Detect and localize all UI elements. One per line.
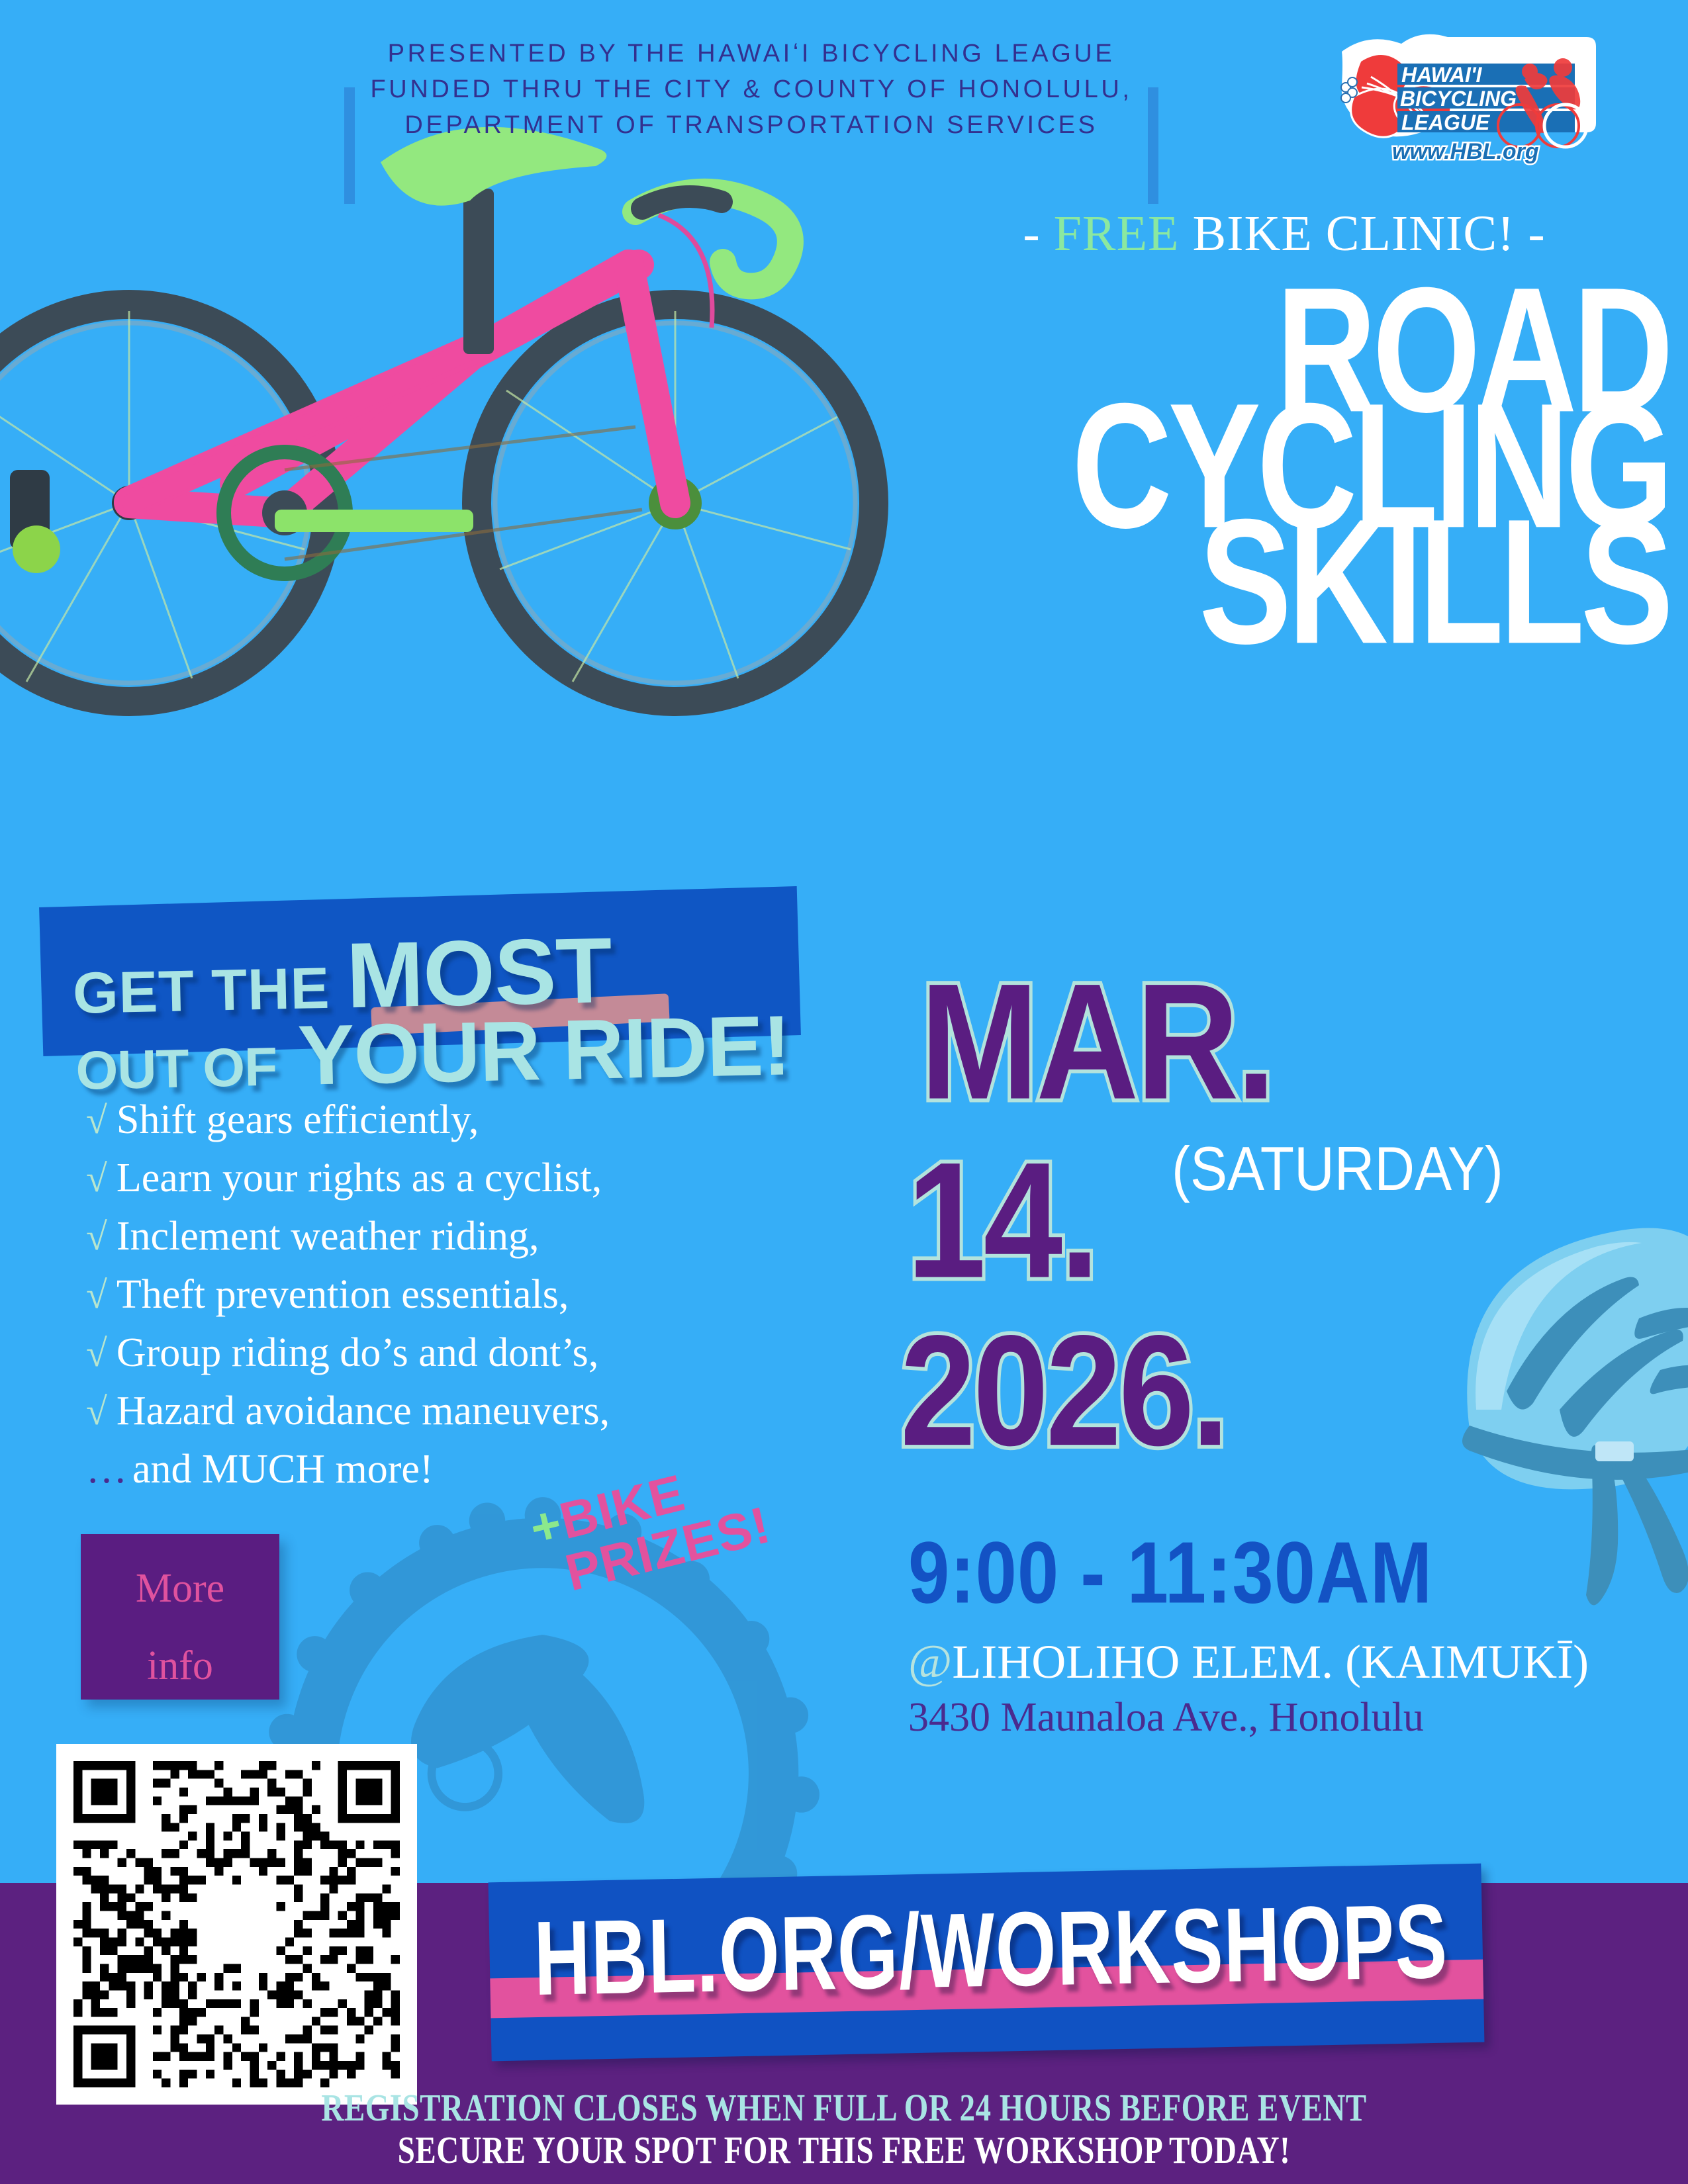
event-time: 9:00 - 11:30AM — [908, 1522, 1432, 1623]
credit-line-1: PRESENTED BY THE HAWAIʻI BICYCLING LEAGU… — [344, 36, 1158, 72]
list-item-label: Learn your rights as a cyclist, — [117, 1156, 602, 1201]
list-item: √Hazard avoidance maneuvers, — [86, 1382, 847, 1440]
list-item: √Group riding do’s and dont’s, — [86, 1324, 847, 1382]
hbl-logo[interactable]: HAWAI'I BICYCLING LEAGUE www.HBL.org — [1327, 33, 1599, 169]
qr-canvas[interactable] — [73, 1761, 400, 2087]
credit-line-2: FUNDED THRU THE CITY & COUNTY OF HONOLUL… — [344, 72, 1158, 108]
title-line-3: SKILLS — [809, 500, 1669, 663]
list-item-label: Hazard avoidance maneuvers, — [117, 1388, 610, 1433]
list-item: √Learn your rights as a cyclist, — [86, 1149, 847, 1207]
kicker-dash-left: - — [1023, 206, 1040, 261]
logo-url: www.HBL.org — [1392, 139, 1539, 164]
list-item-label: Shift gears efficiently, — [117, 1097, 479, 1142]
list-item: √Shift gears efficiently, — [86, 1091, 847, 1149]
event-venue-label: LIHOLIHO ELEM. (KAIMUKĪ) — [952, 1635, 1589, 1688]
tagline-your-ride: YOUR RIDE! — [297, 998, 792, 1103]
more-info-box: More info — [81, 1534, 279, 1700]
list-item: √Theft prevention essentials, — [86, 1265, 847, 1324]
check-icon: √ — [86, 1215, 107, 1258]
benefits-list: √Shift gears efficiently, √Learn your ri… — [86, 1091, 847, 1498]
logo-line-2: BICYCLING — [1400, 87, 1517, 111]
list-item-label: Inclement weather riding, — [117, 1214, 539, 1259]
credit-line-3: DEPARTMENT OF TRANSPORTATION SERVICES — [344, 108, 1158, 144]
event-weekday: (SATURDAY) — [1172, 1133, 1503, 1205]
check-icon: √ — [86, 1099, 107, 1142]
event-address: 3430 Maunaloa Ave., Honolulu — [908, 1694, 1424, 1741]
check-icon: √ — [86, 1332, 107, 1375]
kicker-free: FREE — [1054, 206, 1180, 261]
at-icon: @ — [908, 1635, 952, 1688]
poster-root: PRESENTED BY THE HAWAIʻI BICYCLING LEAGU… — [0, 0, 1688, 2184]
event-day: 14. — [907, 1125, 1097, 1316]
check-icon: √ — [86, 1390, 107, 1433]
event-month: MAR. — [920, 946, 1273, 1137]
more-info-line-1: More — [81, 1534, 279, 1612]
check-icon: √ — [86, 1157, 107, 1200]
footer-line-1: REGISTRATION CLOSES WHEN FULL OR 24 HOUR… — [0, 2085, 1688, 2130]
credit-block: PRESENTED BY THE HAWAIʻI BICYCLING LEAGU… — [344, 36, 1158, 144]
event-venue: @LIHOLIHO ELEM. (KAIMUKĪ) — [908, 1635, 1589, 1690]
tagline-text-block: GET THE MOST OUT OF YOUR RIDE! — [58, 893, 842, 1082]
footer-line-2: SECURE YOUR SPOT FOR THIS FREE WORKSHOP … — [0, 2128, 1688, 2173]
qr-code[interactable] — [56, 1744, 417, 2105]
list-item-label: and MUCH more! — [132, 1447, 434, 1492]
list-item-label: Theft prevention essentials, — [117, 1272, 569, 1317]
event-year: 2026. — [900, 1300, 1227, 1482]
list-item: √Inclement weather riding, — [86, 1207, 847, 1265]
ellipsis-icon: … — [86, 1447, 127, 1492]
logo-line-1: HAWAI'I — [1401, 63, 1483, 87]
check-icon: √ — [86, 1273, 107, 1316]
list-item-label: Group riding do’s and dont’s, — [117, 1330, 598, 1375]
more-info-line-2: info — [81, 1612, 279, 1689]
cta-url[interactable]: HBL.ORG/WORKSHOPS — [503, 1880, 1478, 2021]
logo-line-3: LEAGUE — [1401, 111, 1491, 134]
